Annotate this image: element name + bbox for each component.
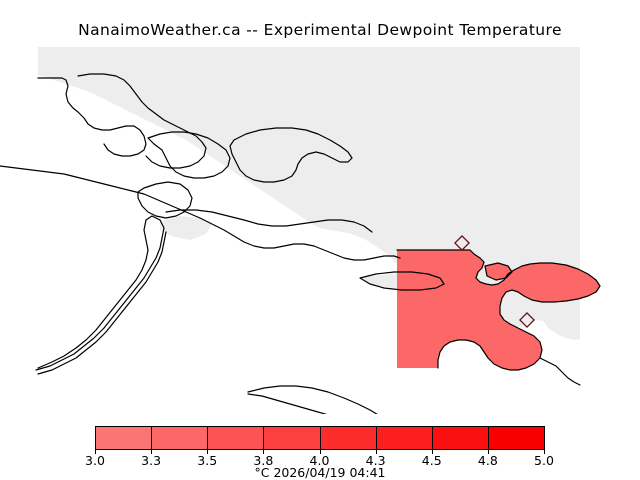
colorbar-segment-1 (96, 427, 152, 449)
weather-map-page: NanaimoWeather.ca -- Experimental Dewpoi… (0, 0, 640, 480)
colorbar-segment-2 (152, 427, 208, 449)
map-canvas[interactable] (0, 44, 640, 414)
colorbar-caption: °C 2026/04/19 04:41 (0, 465, 640, 480)
colorbar-gradient[interactable] (95, 426, 545, 450)
colorbar-segment-7 (433, 427, 489, 449)
page-title: NanaimoWeather.ca -- Experimental Dewpoi… (0, 21, 640, 39)
colorbar-segment-5 (321, 427, 377, 449)
coastline-southeast-shore (540, 358, 580, 385)
colorbar-tick-axis: 3.0 3.3 3.5 3.8 4.0 4.3 4.5 4.8 5.0 (0, 450, 640, 466)
coastline-south-island-chain-lower (248, 394, 420, 414)
coastline-south-island-chain-upper (248, 386, 388, 414)
coastline-west-long-island-inner (36, 216, 164, 370)
map-panel[interactable] (0, 44, 640, 414)
coastline-mid-inlet (138, 182, 192, 218)
colorbar-panel: 3.0 3.3 3.5 3.8 4.0 4.3 4.5 4.8 5.0 °C 2… (0, 420, 640, 480)
colorbar-segment-3 (208, 427, 264, 449)
colorbar-segment-6 (377, 427, 433, 449)
colorbar-segment-8 (489, 427, 544, 449)
colorbar-segment-4 (264, 427, 320, 449)
